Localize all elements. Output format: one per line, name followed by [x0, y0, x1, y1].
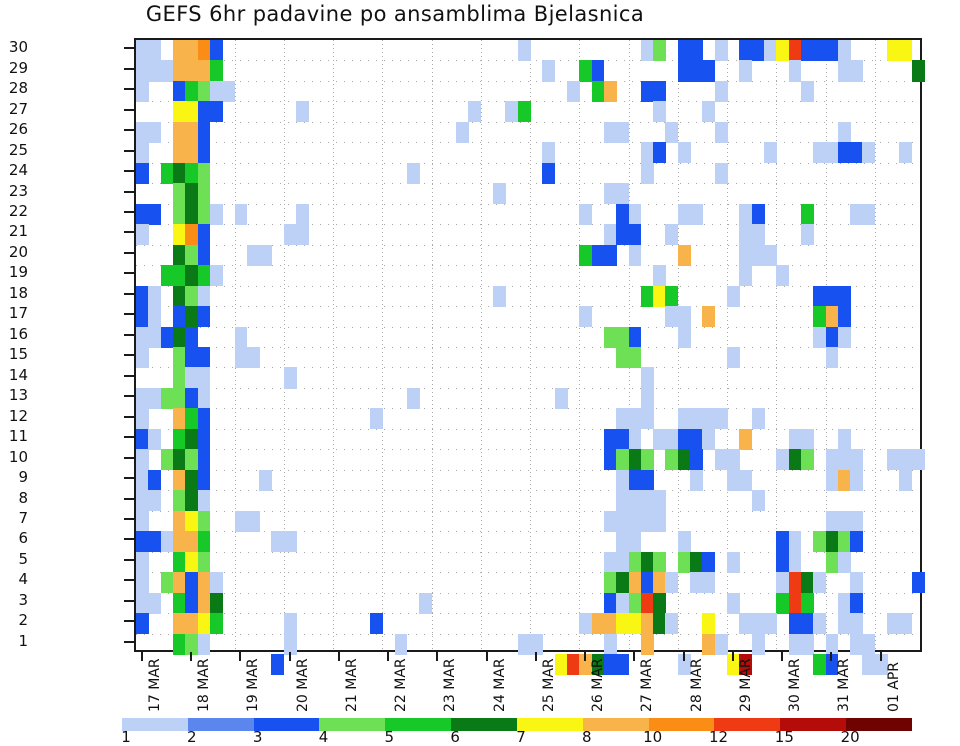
heatmap-cell — [198, 101, 211, 122]
heatmap-cell — [161, 60, 174, 81]
heatmap-cell — [616, 224, 629, 245]
heatmap-cell — [739, 40, 752, 61]
heatmap-cell — [678, 552, 691, 573]
heatmap-cell — [185, 81, 198, 102]
heatmap-cell — [198, 204, 211, 225]
y-axis-label: 26 — [0, 122, 28, 137]
y-axis-tick — [124, 538, 134, 540]
colorbar-band — [319, 718, 385, 731]
heatmap-cell — [198, 265, 211, 286]
colorbar-band — [385, 718, 451, 731]
y-axis-tick — [124, 375, 134, 377]
heatmap-cell — [567, 81, 580, 102]
heatmap-cell — [136, 511, 149, 532]
colorbar-band — [517, 718, 583, 731]
y-axis-label: 17 — [0, 306, 28, 321]
heatmap-cell — [592, 60, 605, 81]
heatmap-cell — [271, 531, 284, 552]
heatmap-cell — [850, 142, 863, 163]
heatmap-cell — [690, 60, 703, 81]
x-axis-label: 27 MAR — [639, 658, 655, 712]
heatmap-cell — [407, 163, 420, 184]
heatmap-cell — [629, 347, 642, 368]
colorbar-label: 15 — [775, 728, 794, 746]
heatmap-cell — [592, 613, 605, 634]
heatmap-cell — [136, 142, 149, 163]
heatmap-cell — [715, 408, 728, 429]
heatmap-cell — [678, 429, 691, 450]
heatmap-cell — [813, 286, 826, 307]
heatmap-cell — [210, 265, 223, 286]
heatmap-cell — [185, 613, 198, 634]
heatmap-cell — [136, 224, 149, 245]
x-axis-tick — [633, 652, 635, 661]
colorbar-label: 6 — [450, 728, 460, 746]
heatmap-cell — [629, 531, 642, 552]
heatmap-cell — [148, 388, 161, 409]
x-axis-tick — [732, 652, 734, 661]
y-axis-tick — [124, 211, 134, 213]
heatmap-cell — [752, 40, 765, 61]
y-axis-tick — [124, 47, 134, 49]
heatmap-cell — [148, 490, 161, 511]
heatmap-cell — [136, 60, 149, 81]
chart-title: GEFS 6hr padavine po ansamblima Bjelasni… — [0, 2, 790, 26]
heatmap-cell — [185, 347, 198, 368]
x-axis-label: 01 APR — [886, 662, 902, 712]
y-axis-label: 11 — [0, 429, 28, 444]
heatmap-cell — [702, 552, 715, 573]
heatmap-cell — [678, 408, 691, 429]
heatmap-cell — [838, 531, 851, 552]
heatmap-cell — [518, 634, 531, 655]
heatmap-cell — [702, 613, 715, 634]
heatmap-cell — [198, 224, 211, 245]
y-axis-label: 1 — [0, 634, 28, 649]
y-axis-tick — [124, 620, 134, 622]
colorbar-label: 1 — [121, 728, 131, 746]
heatmap-cell — [173, 593, 186, 614]
heatmap-cell — [136, 449, 149, 470]
heatmap-cell — [850, 613, 863, 634]
heatmap-cell — [185, 408, 198, 429]
heatmap-cell — [653, 265, 666, 286]
heatmap-cell — [641, 613, 654, 634]
heatmap-cell — [739, 224, 752, 245]
heatmap-cell — [198, 245, 211, 266]
heatmap-cell — [136, 572, 149, 593]
heatmap-cell — [136, 122, 149, 143]
y-axis-label: 13 — [0, 388, 28, 403]
heatmap-cell — [395, 634, 408, 655]
heatmap-cell — [739, 265, 752, 286]
y-axis-tick — [124, 272, 134, 274]
heatmap-cell — [899, 40, 912, 61]
colorbar-label: 4 — [319, 728, 329, 746]
heatmap-cell — [161, 265, 174, 286]
heatmap-cell — [678, 327, 691, 348]
heatmap-cell — [173, 245, 186, 266]
colorbar-band — [583, 718, 649, 731]
heatmap-cell — [826, 531, 839, 552]
heatmap-cell — [826, 306, 839, 327]
heatmap-cell — [899, 449, 912, 470]
heatmap-cell — [173, 327, 186, 348]
heatmap-cell — [665, 613, 678, 634]
heatmap-cell — [629, 552, 642, 573]
heatmap-cell — [210, 60, 223, 81]
y-axis-tick — [124, 313, 134, 315]
heatmap-cell — [813, 531, 826, 552]
y-axis-tick — [124, 231, 134, 233]
heatmap-cell — [198, 470, 211, 491]
heatmap-cell — [136, 163, 149, 184]
heatmap-plot-area — [134, 38, 922, 652]
heatmap-cell — [198, 449, 211, 470]
heatmap-cell — [136, 347, 149, 368]
heatmap-cell — [136, 81, 149, 102]
heatmap-cell — [616, 613, 629, 634]
heatmap-cell — [690, 470, 703, 491]
heatmap-cell — [752, 613, 765, 634]
heatmap-cell — [173, 572, 186, 593]
heatmap-cell — [136, 306, 149, 327]
heatmap-cell — [653, 593, 666, 614]
heatmap-cell — [776, 449, 789, 470]
y-axis-label: 6 — [0, 531, 28, 546]
heatmap-cell — [850, 60, 863, 81]
heatmap-cell — [370, 613, 383, 634]
heatmap-cell — [801, 224, 814, 245]
heatmap-cell — [862, 142, 875, 163]
heatmap-cell — [161, 531, 174, 552]
heatmap-cell — [518, 40, 531, 61]
x-axis-tick — [584, 652, 586, 661]
y-axis-tick — [124, 518, 134, 520]
heatmap-cell — [148, 122, 161, 143]
x-axis-label: 20 MAR — [295, 658, 311, 712]
x-axis-label: 28 MAR — [689, 658, 705, 712]
x-axis-tick — [880, 652, 882, 661]
heatmap-cell — [173, 367, 186, 388]
heatmap-cell — [838, 593, 851, 614]
y-axis-label: 7 — [0, 511, 28, 526]
y-axis-label: 18 — [0, 286, 28, 301]
heatmap-cell — [912, 60, 925, 81]
heatmap-cell — [776, 531, 789, 552]
heatmap-cell — [284, 367, 297, 388]
heatmap-cell — [468, 101, 481, 122]
heatmap-cell — [629, 449, 642, 470]
heatmap-cell — [148, 470, 161, 491]
heatmap-cell — [185, 531, 198, 552]
heatmap-cell — [407, 388, 420, 409]
heatmap-cell — [776, 265, 789, 286]
x-axis-label: 17 MAR — [147, 658, 163, 712]
heatmap-cell — [198, 60, 211, 81]
heatmap-cell — [148, 306, 161, 327]
x-axis-label: 25 MAR — [541, 658, 557, 712]
heatmap-cell — [887, 613, 900, 634]
heatmap-cell — [185, 449, 198, 470]
heatmap-cell — [826, 40, 839, 61]
heatmap-cell — [198, 634, 211, 655]
x-axis-tick — [338, 652, 340, 661]
heatmap-cell — [690, 449, 703, 470]
heatmap-cell — [862, 204, 875, 225]
heatmap-cell — [653, 572, 666, 593]
heatmap-cell — [616, 449, 629, 470]
heatmap-cell — [604, 593, 617, 614]
heatmap-cell — [641, 572, 654, 593]
heatmap-cell — [616, 122, 629, 143]
heatmap-cell — [148, 429, 161, 450]
heatmap-cell — [616, 552, 629, 573]
heatmap-cell — [198, 347, 211, 368]
heatmap-cell — [616, 408, 629, 429]
heatmap-cell — [838, 511, 851, 532]
heatmap-cell — [198, 572, 211, 593]
heatmap-cell — [173, 552, 186, 573]
heatmap-cell — [727, 593, 740, 614]
y-axis-tick — [124, 334, 134, 336]
heatmap-cell — [505, 101, 518, 122]
x-axis-label: 30 MAR — [787, 658, 803, 712]
y-axis-label: 27 — [0, 102, 28, 117]
x-axis-label: 26 MAR — [590, 658, 606, 712]
heatmap-cell — [198, 531, 211, 552]
heatmap-cell — [567, 654, 580, 675]
heatmap-cell — [222, 81, 235, 102]
heatmap-cell — [604, 552, 617, 573]
heatmap-cell — [148, 593, 161, 614]
heatmap-cell — [838, 122, 851, 143]
heatmap-cell — [789, 613, 802, 634]
heatmap-cell — [136, 552, 149, 573]
heatmap-cell — [764, 613, 777, 634]
y-axis-label: 4 — [0, 572, 28, 587]
heatmap-cell — [198, 367, 211, 388]
heatmap-cell — [604, 449, 617, 470]
heatmap-cell — [616, 490, 629, 511]
heatmap-cell — [739, 613, 752, 634]
heatmap-cell — [653, 81, 666, 102]
heatmap-cell — [604, 429, 617, 450]
heatmap-cell — [776, 552, 789, 573]
heatmap-cell — [665, 449, 678, 470]
heatmap-cell — [702, 101, 715, 122]
heatmap-cell — [641, 552, 654, 573]
heatmap-cell — [173, 408, 186, 429]
heatmap-cell — [727, 470, 740, 491]
heatmap-cell — [789, 593, 802, 614]
heatmap-cell — [813, 40, 826, 61]
heatmap-cell — [826, 511, 839, 532]
heatmap-cell — [185, 511, 198, 532]
x-axis-label: 24 MAR — [492, 658, 508, 712]
heatmap-cell — [259, 470, 272, 491]
heatmap-cell — [678, 40, 691, 61]
heatmap-cell — [148, 531, 161, 552]
heatmap-cell — [813, 654, 826, 675]
heatmap-cell — [702, 306, 715, 327]
heatmap-cell — [899, 470, 912, 491]
colorbar-label: 7 — [516, 728, 526, 746]
heatmap-cell — [641, 408, 654, 429]
y-axis-tick — [124, 109, 134, 111]
heatmap-cell — [641, 367, 654, 388]
heatmap-cell — [198, 613, 211, 634]
heatmap-cell — [185, 286, 198, 307]
heatmap-cell — [653, 40, 666, 61]
heatmap-cell — [604, 224, 617, 245]
heatmap-cell — [210, 81, 223, 102]
heatmap-cell — [173, 122, 186, 143]
heatmap-cell — [185, 40, 198, 61]
y-axis-tick — [124, 641, 134, 643]
heatmap-cell — [173, 490, 186, 511]
heatmap-cell — [789, 531, 802, 552]
colorbar-label: 20 — [841, 728, 860, 746]
heatmap-cell — [235, 204, 248, 225]
heatmap-cell — [801, 40, 814, 61]
heatmap-cell — [542, 142, 555, 163]
heatmap-cell — [604, 327, 617, 348]
colorbar-label: 12 — [709, 728, 728, 746]
heatmap-cell — [161, 163, 174, 184]
heatmap-cell — [629, 613, 642, 634]
y-axis-label: 8 — [0, 491, 28, 506]
heatmap-cell — [665, 306, 678, 327]
heatmap-cell — [198, 429, 211, 450]
y-axis-label: 15 — [0, 347, 28, 362]
x-axis-tick — [289, 652, 291, 661]
heatmap-cell — [752, 245, 765, 266]
heatmap-cell — [752, 224, 765, 245]
x-axis-label: 21 MAR — [344, 658, 360, 712]
y-axis-tick — [124, 600, 134, 602]
heatmap-cell — [887, 449, 900, 470]
heatmap-cell — [185, 101, 198, 122]
heatmap-cell — [210, 40, 223, 61]
heatmap-cell — [579, 60, 592, 81]
heatmap-cell — [284, 531, 297, 552]
heatmap-cell — [665, 224, 678, 245]
heatmap-cell — [235, 511, 248, 532]
heatmap-cell — [899, 142, 912, 163]
heatmap-cell — [641, 142, 654, 163]
heatmap-cell — [198, 490, 211, 511]
heatmap-cell — [739, 245, 752, 266]
heatmap-cell — [838, 40, 851, 61]
heatmap-cell — [629, 224, 642, 245]
heatmap-cell — [579, 245, 592, 266]
heatmap-cell — [653, 142, 666, 163]
heatmap-cell — [210, 204, 223, 225]
heatmap-cell — [604, 511, 617, 532]
colorbar-label: 8 — [582, 728, 592, 746]
x-axis-tick — [239, 652, 241, 661]
heatmap-cell — [235, 327, 248, 348]
heatmap-cell — [739, 60, 752, 81]
heatmap-cell — [752, 408, 765, 429]
heatmap-cell — [838, 286, 851, 307]
heatmap-cell — [801, 81, 814, 102]
y-axis-tick — [124, 559, 134, 561]
heatmap-cell — [148, 60, 161, 81]
heatmap-cell — [198, 163, 211, 184]
heatmap-cell — [727, 552, 740, 573]
heatmap-cell — [838, 429, 851, 450]
y-axis-label: 24 — [0, 163, 28, 178]
y-axis-tick — [124, 395, 134, 397]
y-axis-label: 12 — [0, 409, 28, 424]
heatmap-cells — [136, 40, 920, 650]
heatmap-cell — [776, 593, 789, 614]
heatmap-cell — [678, 142, 691, 163]
heatmap-cell — [173, 634, 186, 655]
heatmap-cell — [616, 204, 629, 225]
heatmap-cell — [850, 634, 863, 655]
heatmap-cell — [616, 429, 629, 450]
y-axis-tick — [124, 436, 134, 438]
heatmap-cell — [629, 511, 642, 532]
heatmap-cell — [641, 634, 654, 655]
colorbar-band — [451, 718, 517, 731]
heatmap-cell — [136, 388, 149, 409]
heatmap-cell — [764, 142, 777, 163]
y-axis-label: 30 — [0, 40, 28, 55]
heatmap-cell — [198, 122, 211, 143]
heatmap-cell — [185, 306, 198, 327]
heatmap-cell — [173, 613, 186, 634]
heatmap-cell — [136, 327, 149, 348]
heatmap-cell — [247, 511, 260, 532]
x-axis-label: 18 MAR — [196, 658, 212, 712]
heatmap-cell — [136, 40, 149, 61]
heatmap-cell — [198, 81, 211, 102]
heatmap-cell — [161, 327, 174, 348]
heatmap-cell — [296, 204, 309, 225]
heatmap-cell — [259, 245, 272, 266]
heatmap-cell — [604, 183, 617, 204]
heatmap-cell — [185, 470, 198, 491]
heatmap-cell — [629, 593, 642, 614]
heatmap-cell — [727, 347, 740, 368]
heatmap-cell — [702, 60, 715, 81]
heatmap-cell — [629, 572, 642, 593]
heatmap-cell — [789, 552, 802, 573]
heatmap-cell — [161, 449, 174, 470]
heatmap-cell — [185, 163, 198, 184]
y-axis-label: 22 — [0, 204, 28, 219]
heatmap-cell — [912, 449, 925, 470]
heatmap-cell — [678, 449, 691, 470]
y-axis-tick — [124, 416, 134, 418]
colorbar-label: 5 — [385, 728, 395, 746]
heatmap-cell — [173, 81, 186, 102]
heatmap-cell — [173, 429, 186, 450]
heatmap-cell — [198, 552, 211, 573]
heatmap-cell — [235, 347, 248, 368]
x-axis-tick — [683, 652, 685, 661]
y-axis-label: 25 — [0, 143, 28, 158]
heatmap-cell — [161, 388, 174, 409]
heatmap-cell — [185, 367, 198, 388]
heatmap-cell — [185, 60, 198, 81]
heatmap-cell — [185, 224, 198, 245]
heatmap-cell — [641, 490, 654, 511]
